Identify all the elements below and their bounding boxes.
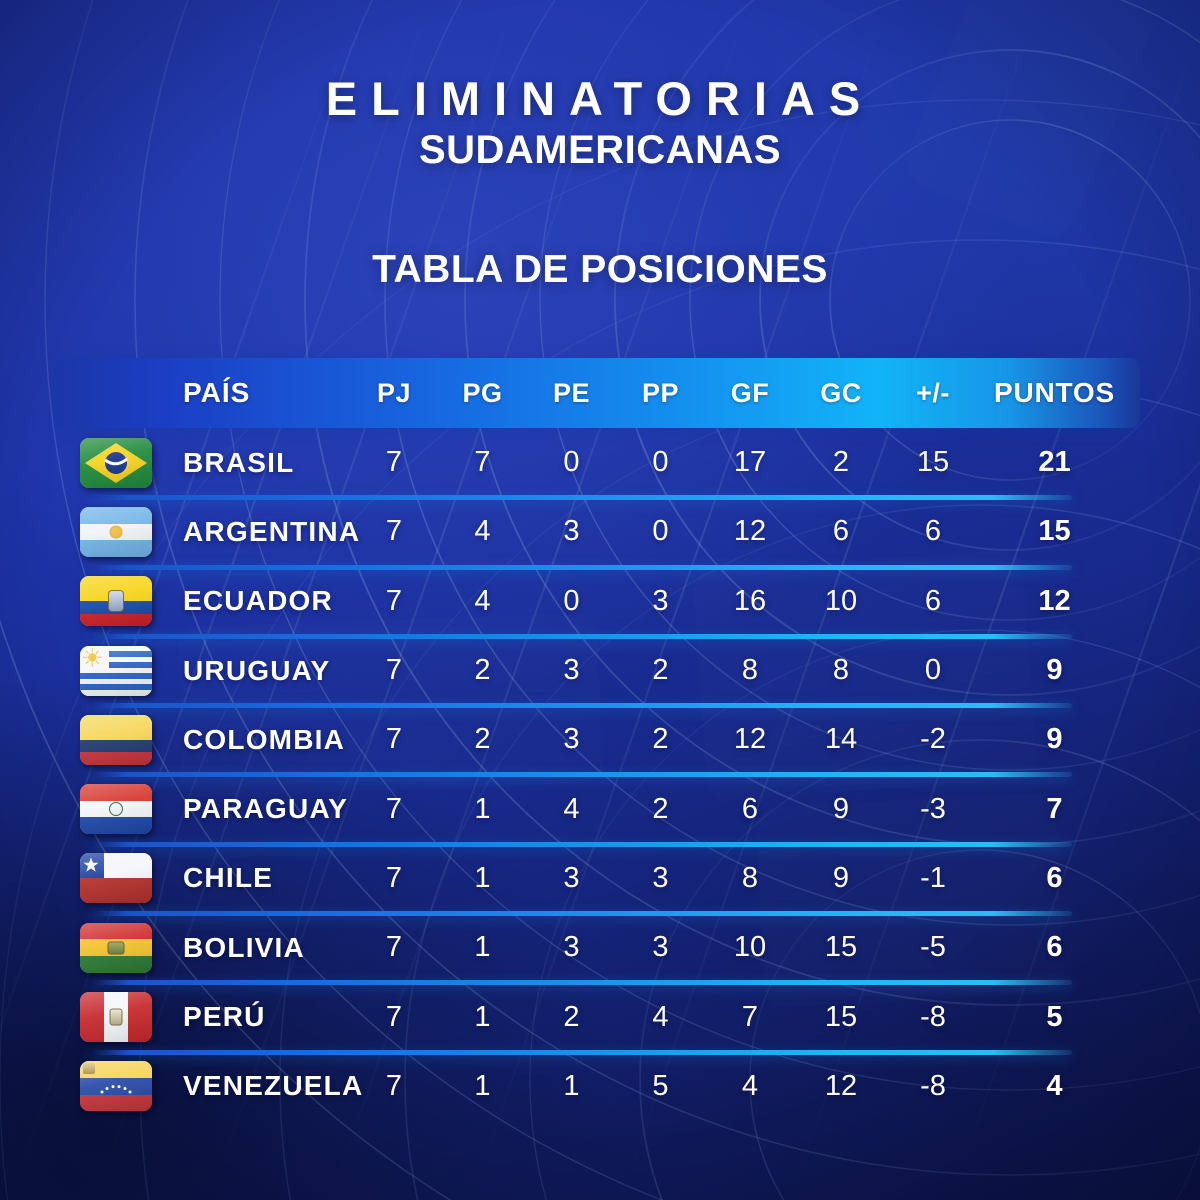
header-cell-gc: GC — [795, 378, 887, 409]
header-cell-points: PUNTOS — [979, 377, 1130, 409]
header-cell-pg: PG — [438, 378, 527, 409]
flag-uruguay-icon — [80, 646, 152, 696]
cell-pm: -8 — [887, 1070, 979, 1103]
cell-pe: 3 — [527, 515, 616, 548]
cell-gf: 17 — [705, 446, 795, 479]
header-cell-pp: PP — [616, 378, 705, 409]
cell-country-name: PERÚ — [175, 1001, 350, 1033]
cell-flag — [57, 507, 175, 557]
cell-pj: 7 — [350, 793, 438, 826]
standings-table: PAÍS PJ PG PE PP GF GC +/- PUNTOS BRASIL… — [57, 358, 1140, 1121]
table-row[interactable]: VENEZUELA7115412-84 — [57, 1052, 1140, 1121]
cell-pe: 3 — [527, 654, 616, 687]
row-separator — [90, 565, 1072, 570]
flag-paraguay-icon — [80, 784, 152, 834]
cell-pj: 7 — [350, 931, 438, 964]
cell-gc: 2 — [795, 446, 887, 479]
row-separator — [90, 772, 1072, 777]
flag-chile-icon — [80, 853, 152, 903]
cell-pm: -5 — [887, 931, 979, 964]
cell-pg: 4 — [438, 515, 527, 548]
cell-country-name: BRASIL — [175, 447, 350, 479]
cell-pj: 7 — [350, 862, 438, 895]
cell-pp: 3 — [616, 862, 705, 895]
cell-gf: 6 — [705, 793, 795, 826]
title-sudamericanas: SUDAMERICANAS — [0, 128, 1200, 173]
cell-points: 6 — [979, 931, 1130, 964]
table-row[interactable]: CHILE713389-16 — [57, 844, 1140, 913]
cell-gc: 8 — [795, 654, 887, 687]
cell-country-name: PARAGUAY — [175, 793, 350, 825]
cell-country-name: BOLIVIA — [175, 932, 350, 964]
cell-gc: 14 — [795, 723, 887, 756]
cell-pm: 6 — [887, 585, 979, 618]
cell-country-name: CHILE — [175, 862, 350, 894]
cell-pe: 2 — [527, 1001, 616, 1034]
cell-pp: 2 — [616, 654, 705, 687]
cell-country-name: ECUADOR — [175, 585, 350, 617]
table-row[interactable]: BOLIVIA71331015-56 — [57, 913, 1140, 982]
cell-pm: 6 — [887, 515, 979, 548]
header-cell-country: PAÍS — [175, 377, 350, 409]
cell-pm: -8 — [887, 1001, 979, 1034]
cell-pg: 1 — [438, 793, 527, 826]
table-row[interactable]: URUGUAY72328809 — [57, 636, 1140, 705]
row-separator — [90, 634, 1072, 639]
header-cell-gf: GF — [705, 378, 795, 409]
cell-pj: 7 — [350, 723, 438, 756]
cell-pj: 7 — [350, 654, 438, 687]
cell-pg: 1 — [438, 931, 527, 964]
cell-flag — [57, 853, 175, 903]
cell-pg: 4 — [438, 585, 527, 618]
cell-country-name: URUGUAY — [175, 655, 350, 687]
cell-gf: 10 — [705, 931, 795, 964]
cell-pp: 0 — [616, 515, 705, 548]
cell-pg: 1 — [438, 1001, 527, 1034]
cell-pp: 3 — [616, 585, 705, 618]
cell-gf: 12 — [705, 515, 795, 548]
cell-points: 9 — [979, 723, 1130, 756]
cell-flag — [57, 784, 175, 834]
cell-pm: 0 — [887, 654, 979, 687]
flag-colombia-icon — [80, 715, 152, 765]
header-cell-pj: PJ — [350, 378, 438, 409]
cell-pg: 2 — [438, 723, 527, 756]
cell-pe: 4 — [527, 793, 616, 826]
cell-pg: 2 — [438, 654, 527, 687]
row-separator — [90, 842, 1072, 847]
cell-gf: 12 — [705, 723, 795, 756]
title-eliminatorias: ELIMINATORIAS — [0, 74, 1200, 124]
cell-country-name: VENEZUELA — [175, 1070, 350, 1102]
cell-gc: 10 — [795, 585, 887, 618]
cell-points: 4 — [979, 1070, 1130, 1103]
row-separator — [90, 1050, 1072, 1055]
row-separator — [90, 495, 1072, 500]
table-header-row: PAÍS PJ PG PE PP GF GC +/- PUNTOS — [57, 358, 1140, 428]
table-row[interactable]: ARGENTINA7430126615 — [57, 497, 1140, 566]
row-separator — [90, 703, 1072, 708]
header-cell-pe: PE — [527, 378, 616, 409]
cell-pe: 0 — [527, 585, 616, 618]
cell-pj: 7 — [350, 585, 438, 618]
section-title-tabla-de-posiciones: TABLA DE POSICIONES — [0, 248, 1200, 292]
cell-gc: 6 — [795, 515, 887, 548]
table-row[interactable]: ECUADOR74031610612 — [57, 567, 1140, 636]
cell-gf: 16 — [705, 585, 795, 618]
cell-pj: 7 — [350, 446, 438, 479]
table-row[interactable]: PARAGUAY714269-37 — [57, 774, 1140, 843]
flag-ecuador-icon — [80, 576, 152, 626]
cell-flag — [57, 576, 175, 626]
cell-pp: 2 — [616, 793, 705, 826]
cell-pm: -2 — [887, 723, 979, 756]
cell-pm: -1 — [887, 862, 979, 895]
cell-gf: 8 — [705, 654, 795, 687]
cell-pe: 3 — [527, 862, 616, 895]
cell-pg: 1 — [438, 1070, 527, 1103]
cell-pm: -3 — [887, 793, 979, 826]
cell-flag — [57, 1061, 175, 1111]
cell-country-name: ARGENTINA — [175, 516, 350, 548]
cell-flag — [57, 715, 175, 765]
cell-pg: 1 — [438, 862, 527, 895]
cell-points: 15 — [979, 515, 1130, 548]
table-row[interactable]: BRASIL77001721521 — [57, 428, 1140, 497]
row-separator — [90, 911, 1072, 916]
cell-flag — [57, 646, 175, 696]
cell-flag — [57, 923, 175, 973]
cell-gf: 8 — [705, 862, 795, 895]
cell-pe: 1 — [527, 1070, 616, 1103]
flag-bolivia-icon — [80, 923, 152, 973]
main-title-block: ELIMINATORIAS SUDAMERICANAS — [0, 74, 1200, 173]
cell-pp: 2 — [616, 723, 705, 756]
cell-gc: 15 — [795, 931, 887, 964]
cell-pe: 3 — [527, 931, 616, 964]
cell-gc: 9 — [795, 793, 887, 826]
cell-gc: 9 — [795, 862, 887, 895]
cell-pj: 7 — [350, 1070, 438, 1103]
cell-pp: 0 — [616, 446, 705, 479]
cell-flag — [57, 992, 175, 1042]
cell-gf: 7 — [705, 1001, 795, 1034]
header-cell-plusminus: +/- — [887, 378, 979, 409]
cell-gc: 15 — [795, 1001, 887, 1034]
cell-pm: 15 — [887, 446, 979, 479]
cell-gc: 12 — [795, 1070, 887, 1103]
cell-pj: 7 — [350, 515, 438, 548]
cell-points: 7 — [979, 793, 1130, 826]
flag-brasil-icon — [80, 438, 152, 488]
flag-argentina-icon — [80, 507, 152, 557]
table-body: BRASIL77001721521 ARGENTINA7430126615 EC… — [57, 428, 1140, 1121]
cell-pe: 0 — [527, 446, 616, 479]
flag-peru-icon — [80, 992, 152, 1042]
cell-country-name: COLOMBIA — [175, 724, 350, 756]
cell-points: 6 — [979, 862, 1130, 895]
cell-pp: 4 — [616, 1001, 705, 1034]
cell-points: 21 — [979, 446, 1130, 479]
table-row[interactable]: COLOMBIA72321214-29 — [57, 705, 1140, 774]
standings-graphic: ELIMINATORIAS SUDAMERICANAS TABLA DE POS… — [0, 0, 1200, 1200]
table-row[interactable]: PERÚ7124715-85 — [57, 982, 1140, 1051]
cell-pe: 3 — [527, 723, 616, 756]
cell-pg: 7 — [438, 446, 527, 479]
cell-points: 5 — [979, 1001, 1130, 1034]
cell-points: 12 — [979, 585, 1130, 618]
row-separator — [90, 980, 1072, 985]
cell-gf: 4 — [705, 1070, 795, 1103]
flag-venezuela-icon — [80, 1061, 152, 1111]
cell-pj: 7 — [350, 1001, 438, 1034]
cell-pp: 5 — [616, 1070, 705, 1103]
cell-pp: 3 — [616, 931, 705, 964]
cell-flag — [57, 438, 175, 488]
cell-points: 9 — [979, 654, 1130, 687]
